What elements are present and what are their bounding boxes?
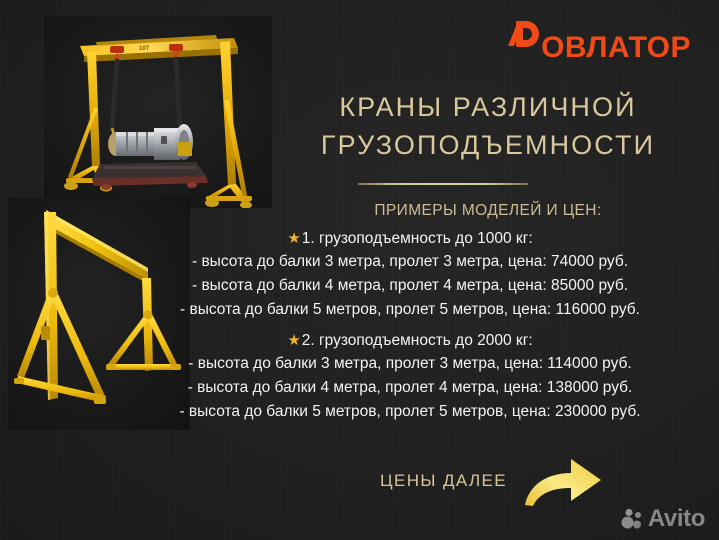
star-icon: ★ [287, 332, 300, 349]
subheading: ПРИМЕРЫ МОДЕЛЕЙ И ЦЕН: [278, 202, 698, 220]
avito-wordmark: Avito [648, 507, 705, 531]
curved-arrow-right-icon [523, 455, 603, 507]
price-group-2-heading: ★2. грузоподъемность до 2000 кг: [110, 330, 710, 352]
price-row: - высота до балки 4 метра, пролет 4 метр… [110, 274, 710, 298]
price-group-1-heading-text: 1. грузоподъемность до 1000 кг: [302, 230, 533, 247]
price-group-2: ★2. грузоподъемность до 2000 кг: - высот… [110, 330, 710, 424]
advertisement-banner: 10T [0, 0, 719, 540]
logo-wordmark: ОВЛАТОР [541, 33, 691, 63]
star-icon: ★ [287, 230, 300, 247]
gantry-crane-with-load-photo: 10T [44, 16, 272, 208]
cta-label: ЦЕНЫ ДАЛЕЕ [380, 471, 507, 491]
price-row: - высота до балки 3 метра, пролет 3 метр… [110, 352, 710, 376]
svg-text:10T: 10T [139, 46, 150, 52]
price-group-1-heading: ★1. грузоподъемность до 1000 кг: [110, 228, 710, 250]
page-title: КРАНЫ РАЗЛИЧНОЙ ГРУЗОПОДЪЕМНОСТИ [278, 88, 698, 165]
logo-d-mark-icon [506, 19, 540, 57]
price-group-2-heading-text: 2. грузоподъемность до 2000 кг: [302, 332, 533, 349]
price-group-1: ★1. грузоподъемность до 1000 кг: - высот… [110, 228, 710, 322]
avito-watermark: Avito [621, 507, 705, 531]
price-row: - высота до балки 3 метра, пролет 3 метр… [110, 250, 710, 274]
brand-logo[interactable]: ОВЛАТОР [506, 19, 691, 63]
avito-dots-icon [621, 508, 643, 530]
price-row: - высота до балки 5 метров, пролет 5 мет… [110, 400, 710, 424]
cta-block[interactable]: ЦЕНЫ ДАЛЕЕ [380, 455, 603, 507]
price-row: - высота до балки 5 метров, пролет 5 мет… [110, 298, 710, 322]
title-divider [358, 183, 528, 185]
price-row: - высота до балки 4 метра, пролет 4 метр… [110, 376, 710, 400]
